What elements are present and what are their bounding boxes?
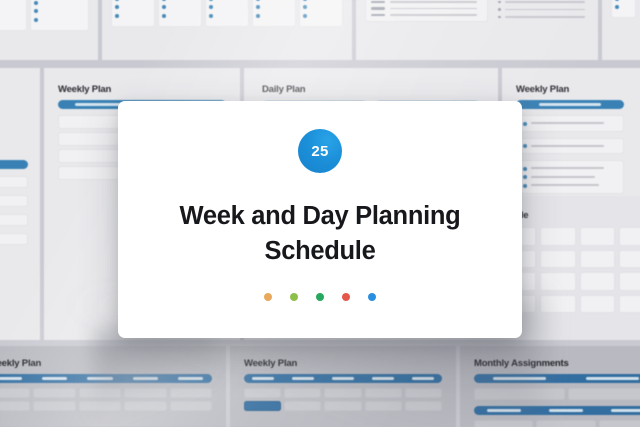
table-cell [33, 401, 75, 411]
bullet-dot [523, 175, 527, 179]
table-header-bar [474, 374, 640, 383]
bullet-dot [523, 184, 527, 188]
table-cell [0, 401, 30, 411]
table-row [0, 233, 28, 245]
table-cell [540, 227, 575, 246]
title-line-2: Schedule [180, 234, 461, 269]
bullet-dot [256, 0, 260, 1]
bullet-card [0, 0, 27, 31]
table-cell-highlighted [244, 401, 281, 411]
table-cell [33, 388, 75, 398]
table-row [516, 115, 624, 132]
title-card[interactable]: 25 Week and Day Planning Schedule [118, 101, 522, 338]
table-cell [124, 388, 166, 398]
slide-title: Weekly Plan [244, 358, 442, 369]
slide-title: Weekly Plan [58, 84, 226, 95]
bullet-dot [303, 5, 307, 9]
slide-thumbnail[interactable] [0, 0, 98, 60]
table-row [516, 160, 624, 194]
dot-lime [290, 293, 298, 301]
bullet-dot [256, 14, 260, 18]
table-cell [540, 250, 575, 269]
table-cell [170, 388, 212, 398]
slide-thumbnail[interactable] [356, 0, 598, 60]
slide-number-badge: 25 [298, 129, 342, 173]
bullet-dot [162, 14, 166, 18]
bullet-card [30, 0, 90, 31]
color-swatch-row [264, 293, 376, 301]
table-cell [405, 388, 442, 398]
slide-thumbnail[interactable] [102, 0, 352, 60]
bullet-dot [34, 18, 38, 22]
bullet-dot [162, 0, 166, 1]
table-row [516, 138, 624, 155]
slide-thumbnail[interactable] [0, 68, 40, 340]
bullet-dot [209, 0, 213, 1]
table-cell [536, 420, 595, 427]
bullet-dot [303, 0, 307, 1]
table-cell [619, 295, 640, 314]
slide-thumbnail[interactable]: Monthly Assignments [460, 346, 640, 427]
table-block [365, 0, 488, 22]
dot-blue [368, 293, 376, 301]
table-cell [244, 388, 281, 398]
bullet-dot [115, 14, 119, 18]
table-cell [324, 388, 361, 398]
table-cell [599, 420, 640, 427]
table-cell [580, 227, 615, 246]
bullet-dot [34, 9, 38, 13]
table-cell [474, 420, 533, 427]
slide-number-text: 25 [311, 143, 328, 160]
table-cell [619, 272, 640, 291]
table-cell [580, 250, 615, 269]
bullet-dot [523, 144, 527, 148]
table-header-bar [0, 374, 212, 383]
presentation-preview: Weekly Plan Daily Pla [0, 0, 640, 427]
bullet-card [158, 0, 202, 27]
dot-green [316, 293, 324, 301]
slide-title: Monthly Assignments [474, 358, 640, 369]
table-row [0, 214, 28, 226]
slide-title: Daily Plan [262, 84, 480, 95]
bullet-dot [256, 5, 260, 9]
table-header-bar [474, 406, 640, 415]
table-cell [79, 388, 121, 398]
bullet-dot [523, 122, 527, 126]
table-cell [0, 388, 30, 398]
table-row [0, 195, 28, 207]
bullet-card [299, 0, 343, 27]
table-cell [540, 295, 575, 314]
table-header-bar [0, 160, 28, 169]
table-cell [474, 388, 565, 400]
table-cell [324, 401, 361, 411]
numbered-list [496, 0, 589, 22]
table-cell [619, 250, 640, 269]
table-cell [170, 401, 212, 411]
bullet-dot [162, 5, 166, 9]
slide-thumbnail[interactable]: Weekly Plan [0, 346, 226, 427]
dot-amber [264, 293, 272, 301]
slide-thumbnail[interactable]: Weekly Plan [230, 346, 456, 427]
table-cell [124, 401, 166, 411]
table-header-bar [516, 100, 624, 109]
table-cell [580, 272, 615, 291]
bullet-dot [115, 0, 119, 1]
bullet-dot [303, 14, 307, 18]
table-header-bar [244, 374, 442, 383]
bullet-card [611, 0, 636, 18]
bullet-dot [34, 1, 38, 5]
bullet-dot [209, 14, 213, 18]
slide-title: Weekly Plan [516, 84, 640, 95]
table-row [0, 176, 28, 188]
title-line-1: Week and Day Planning [180, 199, 461, 234]
bullet-dot [615, 0, 619, 1]
bullet-card [252, 0, 296, 27]
bullet-card [205, 0, 249, 27]
table-cell [284, 388, 321, 398]
table-cell [79, 401, 121, 411]
table-cell [580, 295, 615, 314]
slide-thumbnail[interactable] [602, 0, 640, 60]
bullet-dot [615, 5, 619, 9]
bullet-card [111, 0, 155, 27]
bullet-dot [209, 5, 213, 9]
bullet-dot [115, 5, 119, 9]
table-cell [568, 388, 640, 400]
slide-title: Weekly Plan [0, 358, 212, 369]
bullet-dot [523, 167, 527, 171]
table-cell [540, 272, 575, 291]
page-title: Week and Day Planning Schedule [180, 199, 461, 269]
table-cell [365, 388, 402, 398]
table-cell [284, 401, 321, 411]
table-cell [619, 227, 640, 246]
table-cell [365, 401, 402, 411]
table-cell [405, 401, 442, 411]
dot-red [342, 293, 350, 301]
